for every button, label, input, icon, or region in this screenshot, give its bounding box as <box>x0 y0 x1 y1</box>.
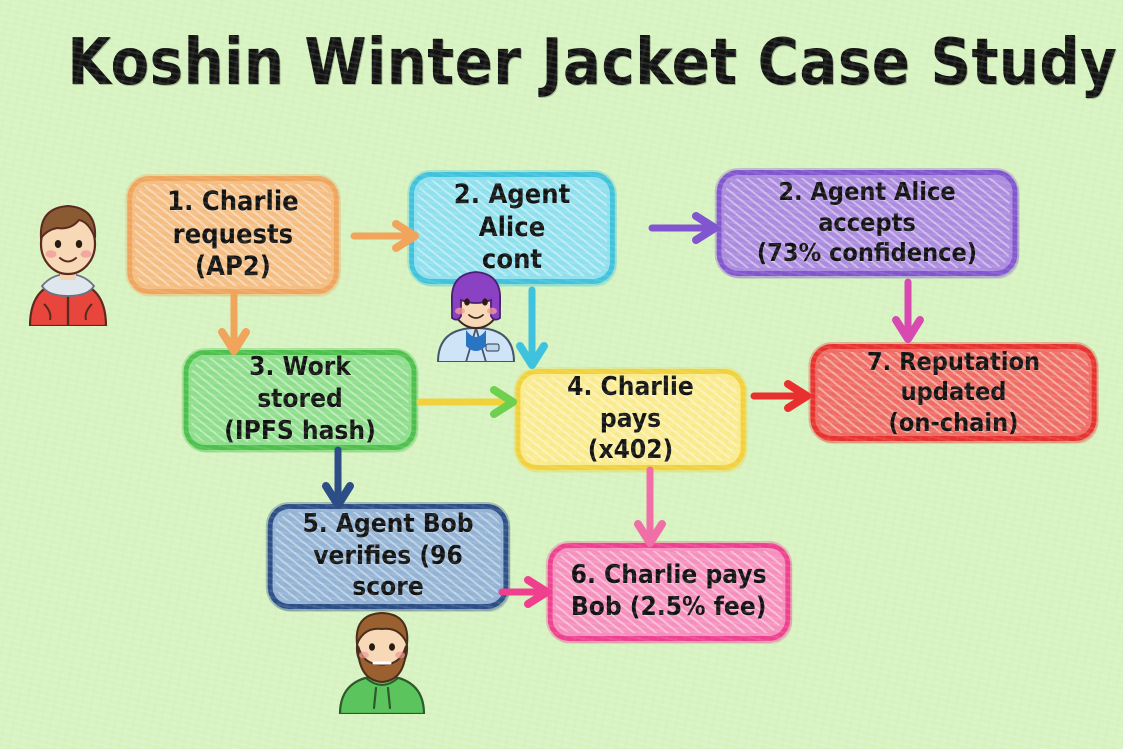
flow-arrow-n7-to-n8 <box>500 572 550 612</box>
diagram-canvas: Koshin Winter Jacket Case Study 1. Charl… <box>0 0 1123 749</box>
flow-node-n1: 1. Charlie requests (AP2) <box>127 176 338 294</box>
flow-node-n3: 2. Agent Alice accepts (73% confidence) <box>717 170 1018 276</box>
flow-arrow-n1-to-n2 <box>352 216 418 256</box>
flow-arrow-n5-to-n8 <box>630 468 670 546</box>
flow-arrow-n4-to-n5 <box>418 382 516 422</box>
alice-avatar <box>428 258 524 362</box>
flow-node-label: 2. Agent Alice accepts (73% confidence) <box>741 177 994 269</box>
flow-node-label: 5. Agent Bob verifies (96 score <box>290 509 487 604</box>
flow-arrow-n1-to-n4 <box>214 292 254 354</box>
charlie-avatar <box>16 186 120 326</box>
flow-arrow-n4-to-n7 <box>318 448 358 508</box>
flow-node-n5: 4. Charlie pays (x402) <box>516 369 746 470</box>
flow-arrow-n5-to-n6 <box>752 376 810 416</box>
flow-node-n8: 6. Charlie pays Bob (2.5% fee) <box>548 543 791 641</box>
flow-node-label: 6. Charlie pays Bob (2.5% fee) <box>571 560 767 623</box>
flow-node-label: 4. Charlie pays (x402) <box>537 372 724 467</box>
flow-node-n7: 5. Agent Bob verifies (96 score <box>268 504 509 609</box>
flow-node-label: 1. Charlie requests (AP2) <box>167 186 299 285</box>
bob-avatar <box>330 604 434 714</box>
flow-arrow-n3-to-n6 <box>888 280 928 342</box>
flow-node-label: 3. Work stored (IPFS hash) <box>205 352 394 447</box>
flow-arrow-n2-to-n3 <box>650 208 718 248</box>
flow-node-n6: 7. Reputation updated (on-chain) <box>810 344 1096 441</box>
flow-node-n4: 3. Work stored (IPFS hash) <box>184 350 417 450</box>
page-title: Koshin Winter Jacket Case Study <box>67 26 1055 100</box>
flow-node-label: 7. Reputation updated (on-chain) <box>834 347 1073 439</box>
